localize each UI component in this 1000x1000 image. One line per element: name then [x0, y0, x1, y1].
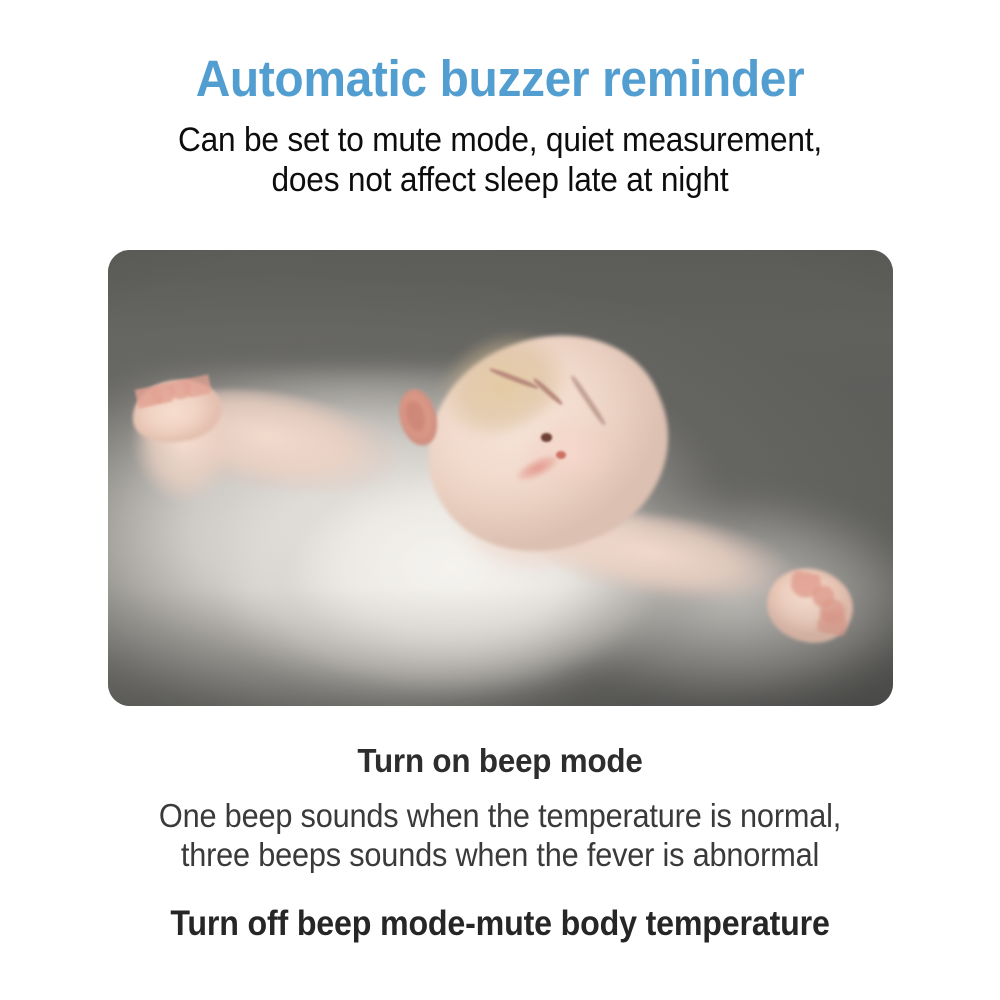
- page-subtitle-line-1: Can be set to mute mode, quiet measureme…: [35, 120, 965, 160]
- caption-heading-beep-off: Turn off beep mode-mute body temperature: [40, 903, 960, 944]
- baby-photo: [108, 250, 893, 706]
- product-feature-slide: Automatic buzzer reminder Can be set to …: [0, 0, 1000, 1000]
- header-block: Automatic buzzer reminder Can be set to …: [0, 52, 1000, 200]
- caption-body-line-2: three beeps sounds when the fever is abn…: [35, 836, 965, 875]
- page-subtitle-line-2: does not affect sleep late at night: [35, 160, 965, 200]
- page-subtitle: Can be set to mute mode, quiet measureme…: [35, 120, 965, 200]
- baby-nostril-left: [541, 433, 553, 442]
- page-title: Automatic buzzer reminder: [30, 52, 970, 106]
- caption-body-line-1: One beep sounds when the temperature is …: [35, 797, 965, 836]
- caption-heading-beep-on: Turn on beep mode: [25, 742, 975, 781]
- caption-block: Turn on beep mode One beep sounds when t…: [0, 742, 1000, 944]
- caption-body: One beep sounds when the temperature is …: [35, 797, 965, 875]
- photo-background: [108, 250, 893, 706]
